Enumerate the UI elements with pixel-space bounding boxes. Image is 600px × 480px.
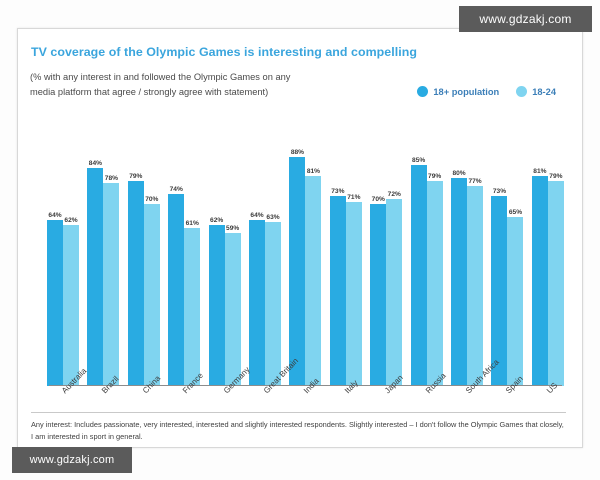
bar-secondary[interactable]: 65% bbox=[507, 114, 523, 386]
bar-rect bbox=[507, 217, 523, 386]
legend-item-1[interactable]: 18+ population bbox=[417, 86, 499, 97]
legend-swatch-icon bbox=[417, 86, 428, 97]
bar-group: 73%71% bbox=[330, 114, 362, 386]
legend-label: 18+ population bbox=[433, 87, 499, 97]
bar-group: 88%81% bbox=[289, 114, 321, 386]
bar-groups: 64%62%84%78%79%70%74%61%62%59%64%63%88%8… bbox=[41, 114, 570, 386]
bar-primary[interactable]: 84% bbox=[87, 114, 103, 386]
bar-secondary[interactable]: 61% bbox=[184, 114, 200, 386]
bar-value-label: 84% bbox=[89, 160, 102, 167]
bar-secondary[interactable]: 70% bbox=[144, 114, 160, 386]
bar-secondary[interactable]: 81% bbox=[305, 114, 321, 386]
bar-primary[interactable]: 62% bbox=[209, 114, 225, 386]
bar-value-label: 79% bbox=[549, 173, 562, 180]
bar-primary[interactable]: 70% bbox=[370, 114, 386, 386]
bar-primary[interactable]: 81% bbox=[532, 114, 548, 386]
legend-item-2[interactable]: 18-24 bbox=[516, 86, 556, 97]
bar-rect bbox=[386, 199, 402, 386]
bar-group: 79%70% bbox=[128, 114, 160, 386]
bar-rect bbox=[532, 176, 548, 386]
bar-group: 85%79% bbox=[411, 114, 443, 386]
bar-group: 74%61% bbox=[168, 114, 200, 386]
bar-rect bbox=[411, 165, 427, 386]
bar-value-label: 73% bbox=[493, 188, 506, 195]
bar-value-label: 61% bbox=[186, 220, 199, 227]
bar-secondary[interactable]: 79% bbox=[548, 114, 564, 386]
bar-rect bbox=[184, 228, 200, 386]
bar-rect bbox=[249, 220, 265, 386]
bar-rect bbox=[346, 202, 362, 386]
bar-value-label: 70% bbox=[145, 196, 158, 203]
bar-value-label: 85% bbox=[412, 157, 425, 164]
bar-value-label: 74% bbox=[170, 186, 183, 193]
bar-primary[interactable]: 85% bbox=[411, 114, 427, 386]
bar-secondary[interactable]: 79% bbox=[427, 114, 443, 386]
bar-rect bbox=[103, 183, 119, 386]
bar-rect bbox=[289, 157, 305, 386]
bar-group: 84%78% bbox=[87, 114, 119, 386]
bar-value-label: 73% bbox=[331, 188, 344, 195]
bar-primary[interactable]: 64% bbox=[249, 114, 265, 386]
bar-primary[interactable]: 79% bbox=[128, 114, 144, 386]
bar-secondary[interactable]: 63% bbox=[265, 114, 281, 386]
bar-group: 64%63% bbox=[249, 114, 281, 386]
page-title: TV coverage of the Olympic Games is inte… bbox=[31, 45, 417, 59]
watermark-top: www.gdzakj.com bbox=[459, 6, 592, 32]
bar-value-label: 72% bbox=[388, 191, 401, 198]
bar-value-label: 79% bbox=[129, 173, 142, 180]
bar-secondary[interactable]: 78% bbox=[103, 114, 119, 386]
bar-primary[interactable]: 73% bbox=[491, 114, 507, 386]
bar-secondary[interactable]: 72% bbox=[386, 114, 402, 386]
subtitle-line-2: media platform that agree / strongly agr… bbox=[30, 85, 290, 100]
bar-secondary[interactable]: 77% bbox=[467, 114, 483, 386]
bar-group: 80%77% bbox=[451, 114, 483, 386]
bar-primary[interactable]: 74% bbox=[168, 114, 184, 386]
legend-swatch-icon bbox=[516, 86, 527, 97]
bar-group: 70%72% bbox=[370, 114, 402, 386]
bar-rect bbox=[548, 181, 564, 386]
chart-subtitle: (% with any interest in and followed the… bbox=[30, 70, 290, 100]
bar-value-label: 81% bbox=[533, 168, 546, 175]
bar-secondary[interactable]: 62% bbox=[63, 114, 79, 386]
bar-rect bbox=[168, 194, 184, 386]
chart-legend: 18+ population18-24 bbox=[417, 86, 556, 97]
bar-rect bbox=[63, 225, 79, 386]
bar-secondary[interactable]: 71% bbox=[346, 114, 362, 386]
bar-rect bbox=[305, 176, 321, 386]
subtitle-line-1: (% with any interest in and followed the… bbox=[30, 70, 290, 85]
bar-rect bbox=[47, 220, 63, 386]
bar-value-label: 62% bbox=[64, 217, 77, 224]
bar-group: 81%79% bbox=[532, 114, 564, 386]
bar-rect bbox=[467, 186, 483, 386]
bar-value-label: 88% bbox=[291, 149, 304, 156]
bar-value-label: 64% bbox=[250, 212, 263, 219]
bar-value-label: 64% bbox=[48, 212, 61, 219]
bar-value-label: 65% bbox=[509, 209, 522, 216]
bar-rect bbox=[451, 178, 467, 386]
bar-primary[interactable]: 88% bbox=[289, 114, 305, 386]
bar-rect bbox=[209, 225, 225, 386]
bar-value-label: 70% bbox=[372, 196, 385, 203]
bar-value-label: 81% bbox=[307, 168, 320, 175]
bar-group: 73%65% bbox=[491, 114, 523, 386]
bar-group: 62%59% bbox=[209, 114, 241, 386]
bar-value-label: 63% bbox=[266, 214, 279, 221]
slide-card: TV coverage of the Olympic Games is inte… bbox=[17, 28, 583, 448]
bar-secondary[interactable]: 59% bbox=[225, 114, 241, 386]
bar-rect bbox=[370, 204, 386, 386]
bar-group: 64%62% bbox=[47, 114, 79, 386]
bar-rect bbox=[87, 168, 103, 386]
bar-rect bbox=[330, 196, 346, 386]
legend-label: 18-24 bbox=[532, 87, 556, 97]
bar-value-label: 79% bbox=[428, 173, 441, 180]
bar-value-label: 77% bbox=[468, 178, 481, 185]
screenshot-root: TV coverage of the Olympic Games is inte… bbox=[0, 0, 600, 480]
watermark-bottom: www.gdzakj.com bbox=[12, 447, 132, 473]
bar-rect bbox=[265, 222, 281, 386]
bar-rect bbox=[144, 204, 160, 386]
bar-primary[interactable]: 80% bbox=[451, 114, 467, 386]
bar-value-label: 80% bbox=[452, 170, 465, 177]
bar-value-label: 62% bbox=[210, 217, 223, 224]
chart-plot-area: 64%62%84%78%79%70%74%61%62%59%64%63%88%8… bbox=[41, 114, 570, 386]
bar-primary[interactable]: 64% bbox=[47, 114, 63, 386]
bar-rect bbox=[128, 181, 144, 386]
bar-rect bbox=[225, 233, 241, 386]
bar-value-label: 78% bbox=[105, 175, 118, 182]
bar-value-label: 71% bbox=[347, 194, 360, 201]
bar-rect bbox=[427, 181, 443, 386]
bar-primary[interactable]: 73% bbox=[330, 114, 346, 386]
bar-value-label: 59% bbox=[226, 225, 239, 232]
chart-footnote: Any interest: Includes passionate, very … bbox=[31, 412, 566, 443]
